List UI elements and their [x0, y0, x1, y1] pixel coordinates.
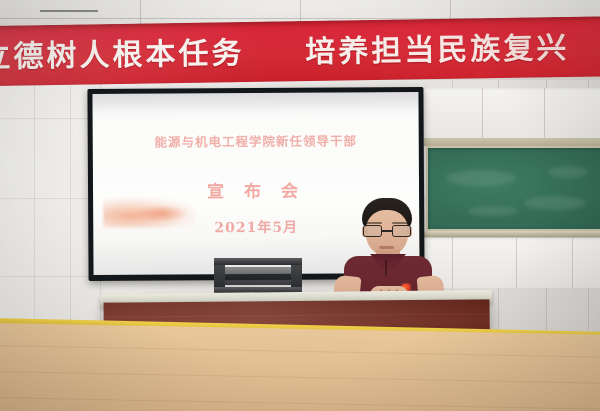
wooden-floor	[0, 323, 600, 411]
chalkboard	[426, 146, 600, 231]
shirt-placket	[385, 260, 387, 276]
board-frame-upper	[424, 138, 600, 146]
mouth	[379, 246, 394, 249]
slide-line-1: 能源与机电工程学院新任领导干部	[93, 130, 419, 151]
red-slogan-banner: 立德树人根本任务 培养担当民族复兴	[0, 16, 600, 86]
banner-text-gap	[258, 62, 292, 63]
banner-text: 立德树人根本任务 培养担当民族复兴	[0, 22, 600, 76]
eyebrow-left	[366, 222, 382, 224]
classroom-photo-scene: 立德树人根本任务 培养担当民族复兴 能源与机电工程学院新任领导干部 宣 布 会 …	[0, 0, 600, 411]
chalk-ledge	[424, 231, 600, 237]
eyebrow-right	[392, 222, 408, 224]
glasses	[363, 225, 411, 237]
whiteboard-panel-bottom	[424, 238, 600, 288]
whiteboard-panel-top	[424, 88, 600, 138]
chalkboard-assembly	[424, 88, 600, 288]
metal-document-stand	[214, 258, 302, 294]
banner-text-left: 立德树人根本任务	[0, 36, 245, 75]
banner-text-right: 培养担当民族复兴	[305, 31, 570, 70]
